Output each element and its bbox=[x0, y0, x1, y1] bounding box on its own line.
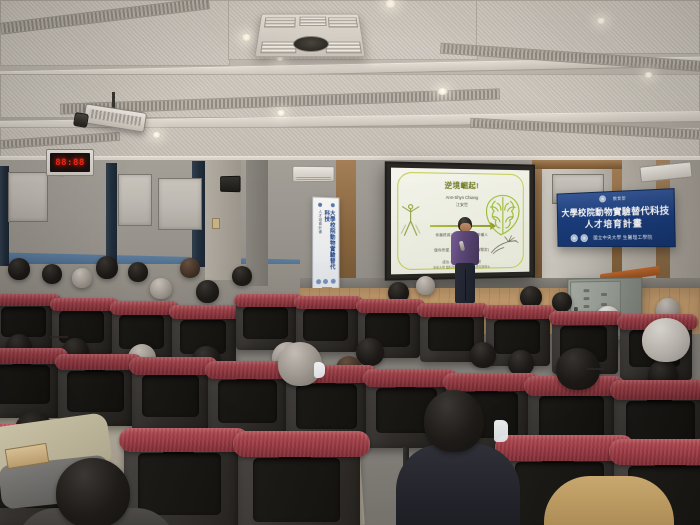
audience-head bbox=[180, 258, 200, 278]
wall-speaker bbox=[220, 176, 240, 193]
wall-outlet bbox=[212, 218, 220, 229]
lecture-hall-photo: 88:88 逆境崛起! Ann-Shyn Chiang 江安世 bbox=[0, 0, 700, 525]
door-frame bbox=[532, 160, 624, 169]
eyeglasses bbox=[586, 368, 604, 370]
roll-banner-logo-icon bbox=[330, 203, 334, 207]
window-blind bbox=[118, 174, 152, 226]
audience-head bbox=[96, 256, 118, 279]
audience-head bbox=[128, 262, 148, 282]
banner-organization: 國立中央大學 生醫理工學院 bbox=[558, 235, 674, 242]
audience-head bbox=[552, 292, 572, 312]
recessed-downlight bbox=[437, 88, 448, 95]
auditorium-seat bbox=[238, 444, 360, 525]
recessed-downlight bbox=[596, 18, 606, 24]
audience-head bbox=[56, 458, 130, 525]
audience-head bbox=[642, 318, 690, 362]
auditorium-seat bbox=[0, 356, 62, 418]
audience-head bbox=[42, 264, 62, 284]
audience-head bbox=[424, 390, 484, 452]
ac-fan-intake bbox=[293, 36, 329, 52]
led-clock-display: 88:88 bbox=[50, 153, 90, 172]
recessed-downlight bbox=[241, 34, 252, 41]
auditorium-seat bbox=[132, 366, 212, 432]
split-air-conditioner bbox=[292, 166, 334, 183]
audience-shoulders bbox=[396, 444, 520, 525]
audience-head bbox=[416, 276, 435, 295]
window-blind bbox=[158, 178, 202, 230]
audience-head bbox=[196, 280, 219, 303]
roll-banner-header bbox=[313, 201, 338, 209]
slide-title: 逆境崛起! bbox=[391, 179, 529, 192]
blue-event-banner: 教育部 大學校院動物實驗替代科技 人才培育計畫 國立中央大學 生醫理工學院 bbox=[557, 188, 676, 247]
banner-ministry-label: 教育部 bbox=[557, 193, 673, 204]
audience-head bbox=[150, 278, 172, 299]
recessed-downlight bbox=[384, 0, 397, 8]
banner-line-2: 人才培育計畫 bbox=[558, 216, 674, 231]
ceiling bbox=[0, 0, 700, 172]
recessed-downlight bbox=[152, 132, 161, 138]
face-mask bbox=[494, 420, 508, 442]
audience-head bbox=[72, 268, 92, 288]
projector-lens bbox=[73, 112, 89, 128]
audience-head bbox=[470, 342, 496, 368]
recessed-downlight bbox=[644, 72, 653, 78]
audience-head bbox=[232, 266, 252, 286]
window-blind bbox=[8, 172, 48, 222]
roll-banner-logo-icon bbox=[318, 202, 322, 206]
led-clock: 88:88 bbox=[46, 149, 94, 176]
audience-head bbox=[8, 258, 30, 280]
eyeglasses bbox=[50, 336, 68, 338]
brain-icon bbox=[482, 191, 524, 239]
face-mask bbox=[314, 362, 325, 378]
recessed-downlight bbox=[276, 110, 286, 116]
